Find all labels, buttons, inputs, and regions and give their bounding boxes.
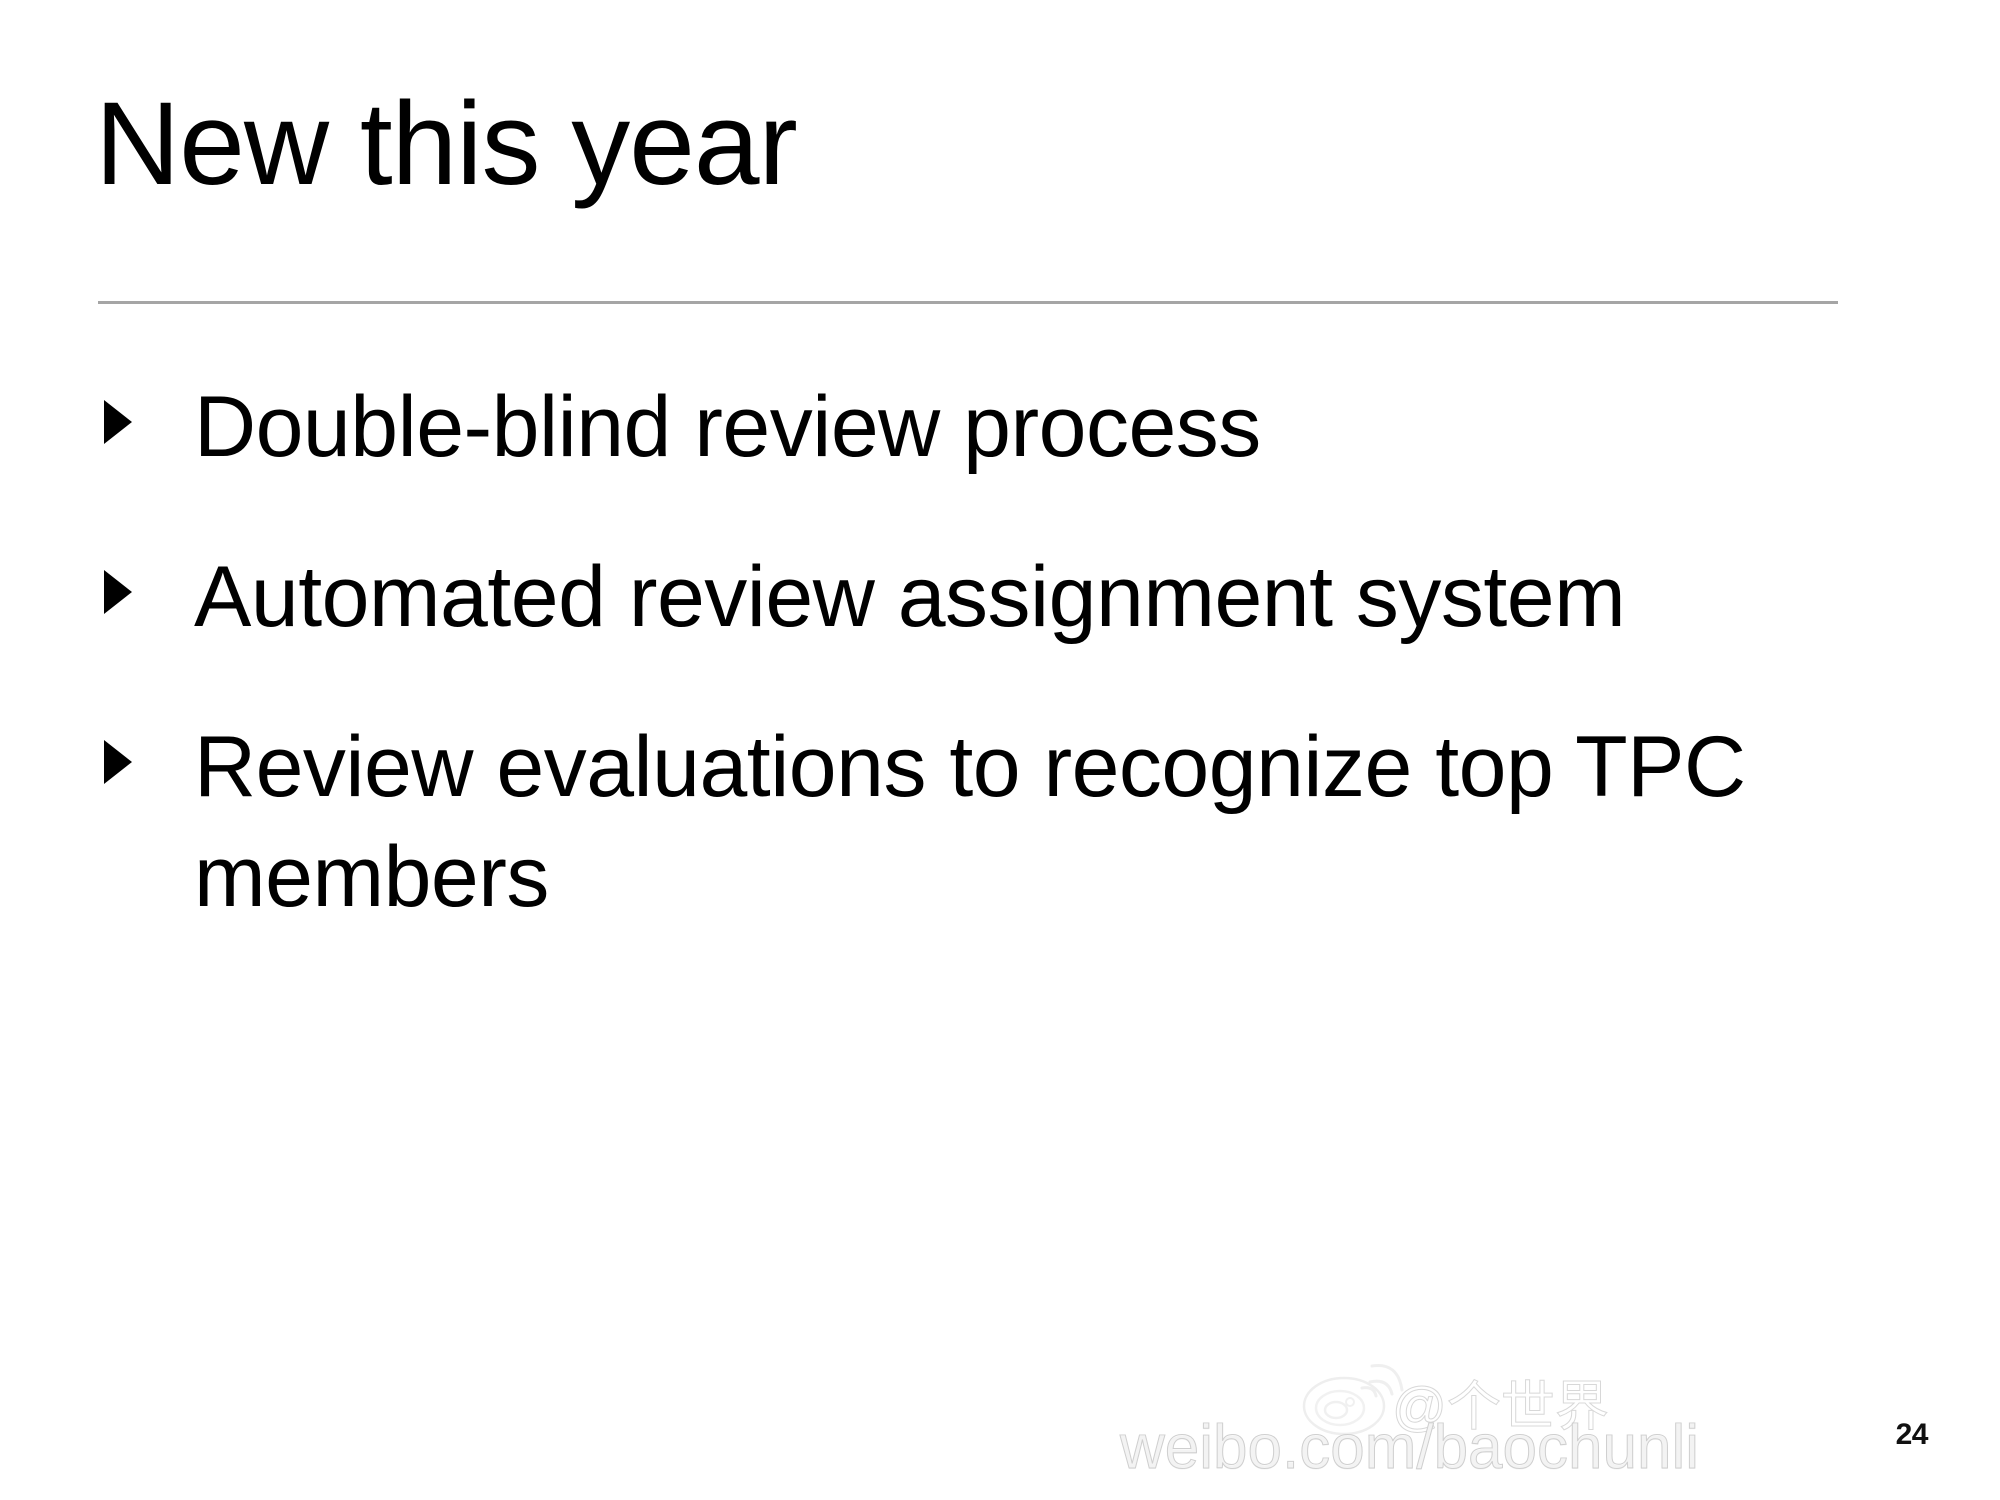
list-item-label: Review evaluations to recognize top TPC …: [194, 712, 1920, 932]
triangle-right-bullet-icon: [100, 568, 136, 616]
page-title: New this year: [95, 78, 797, 210]
weibo-logo-icon: [1300, 1352, 1408, 1438]
weibo-handle-text: @个世界: [1392, 1362, 1609, 1441]
list-item-label: Double-blind review process: [194, 372, 1920, 482]
page-number: 24: [1896, 1418, 1928, 1452]
title-divider: [98, 301, 1838, 304]
list-item: Double-blind review process: [100, 372, 1920, 482]
weibo-url-text: weibo.com/baochunli: [1120, 1412, 1699, 1483]
bullet-list: Double-blind review process Automated re…: [100, 372, 1920, 992]
list-item: Automated review assignment system: [100, 542, 1920, 652]
weibo-watermark: @个世界 weibo.com/baochunli: [1120, 1352, 2000, 1500]
presentation-slide: New this year Double-blind review proces…: [0, 0, 2000, 1500]
triangle-right-bullet-icon: [100, 398, 136, 446]
list-item: Review evaluations to recognize top TPC …: [100, 712, 1920, 932]
triangle-right-bullet-icon: [100, 738, 136, 786]
list-item-label: Automated review assignment system: [194, 542, 1920, 652]
